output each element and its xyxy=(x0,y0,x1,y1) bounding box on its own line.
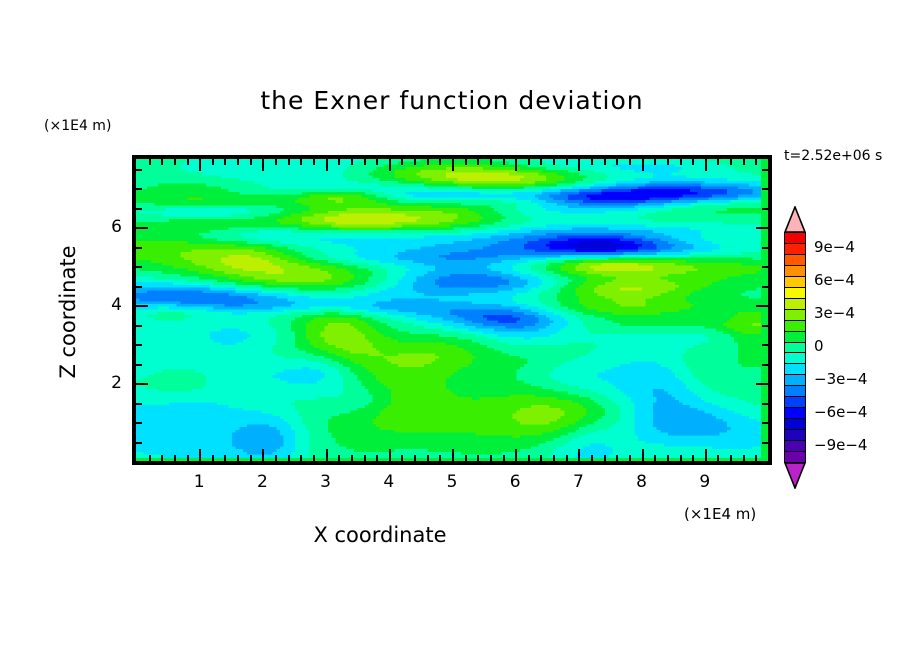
x-tick xyxy=(313,455,315,461)
x-tick-top xyxy=(439,159,441,165)
z-tick-right xyxy=(762,422,768,424)
x-tick-top xyxy=(743,159,745,165)
colorbar-over-arrow xyxy=(784,206,806,233)
z-tick-right xyxy=(756,383,768,385)
z-tick-right xyxy=(762,188,768,190)
x-tick-top xyxy=(667,159,669,165)
x-tick xyxy=(591,455,593,461)
z-tick xyxy=(136,403,142,405)
x-tick xyxy=(667,455,669,461)
x-tick-top xyxy=(326,159,328,171)
x-tick xyxy=(389,449,391,461)
x-tick-top xyxy=(503,159,505,165)
x-tick xyxy=(364,455,366,461)
x-tick xyxy=(755,455,757,461)
x-tick-top xyxy=(730,159,732,165)
x-tick-top xyxy=(692,159,694,165)
x-tick-top xyxy=(452,159,454,171)
x-tick-top xyxy=(275,159,277,165)
x-tick xyxy=(717,455,719,461)
x-tick xyxy=(490,455,492,461)
x-tick-label: 2 xyxy=(242,472,282,492)
x-tick-top xyxy=(199,159,201,171)
x-tick-top xyxy=(717,159,719,165)
x-tick-top xyxy=(364,159,366,165)
x-tick xyxy=(224,455,226,461)
chart-title: the Exner function deviation xyxy=(0,86,904,115)
x-tick-top xyxy=(490,159,492,165)
colorbar-tick-label: 6e−4 xyxy=(814,271,855,289)
colorbar-under-arrow xyxy=(784,462,806,489)
z-tick-right xyxy=(762,325,768,327)
x-tick xyxy=(465,455,467,461)
x-tick xyxy=(212,455,214,461)
x-tick xyxy=(452,449,454,461)
x-tick-top xyxy=(528,159,530,165)
x-tick xyxy=(629,455,631,461)
z-tick xyxy=(136,169,142,171)
z-tick-right xyxy=(762,169,768,171)
x-tick xyxy=(578,449,580,461)
contour-field xyxy=(136,159,768,461)
x-axis-label: X coordinate xyxy=(0,523,760,547)
x-tick xyxy=(553,455,555,461)
x-tick xyxy=(414,455,416,461)
x-tick xyxy=(338,455,340,461)
x-tick-top xyxy=(604,159,606,165)
x-tick-label: 4 xyxy=(369,472,409,492)
x-tick xyxy=(439,455,441,461)
x-tick xyxy=(540,455,542,461)
x-axis-unit-label: (×1E4 m) xyxy=(684,505,756,523)
z-tick-right xyxy=(762,286,768,288)
x-tick xyxy=(326,449,328,461)
x-tick-top xyxy=(250,159,252,165)
z-tick xyxy=(136,364,142,366)
x-tick-top xyxy=(338,159,340,165)
x-tick xyxy=(376,455,378,461)
x-tick xyxy=(515,449,517,461)
x-tick xyxy=(743,455,745,461)
z-tick-right xyxy=(762,442,768,444)
x-tick-label: 5 xyxy=(432,472,472,492)
z-tick xyxy=(136,286,142,288)
time-annotation: t=2.52e+06 s xyxy=(784,148,882,164)
x-tick xyxy=(149,455,151,461)
colorbar-tick-label: −9e−4 xyxy=(814,436,867,454)
z-tick xyxy=(136,442,142,444)
z-axis-unit-label: (×1E4 m) xyxy=(44,118,111,134)
x-tick xyxy=(275,455,277,461)
x-tick-top xyxy=(465,159,467,165)
x-tick-top xyxy=(616,159,618,165)
z-tick-right xyxy=(756,305,768,307)
x-tick-label: 1 xyxy=(179,472,219,492)
x-tick xyxy=(604,455,606,461)
z-tick xyxy=(136,305,148,307)
x-tick xyxy=(503,455,505,461)
x-tick-top xyxy=(566,159,568,165)
z-tick xyxy=(136,247,142,249)
x-tick xyxy=(705,449,707,461)
x-tick-top xyxy=(351,159,353,165)
x-tick-top xyxy=(300,159,302,165)
z-tick-label: 2 xyxy=(82,373,122,393)
heatmap-plot-area xyxy=(132,155,772,465)
x-tick-top xyxy=(477,159,479,165)
x-tick xyxy=(692,455,694,461)
x-tick xyxy=(654,455,656,461)
z-tick-right xyxy=(762,266,768,268)
colorbar-tick-label: 0 xyxy=(814,337,824,355)
x-tick-top xyxy=(629,159,631,165)
x-tick-top xyxy=(705,159,707,171)
x-tick xyxy=(680,455,682,461)
x-tick xyxy=(401,455,403,461)
z-tick xyxy=(136,188,142,190)
x-tick-label: 3 xyxy=(306,472,346,492)
x-tick xyxy=(161,455,163,461)
x-tick xyxy=(174,455,176,461)
z-tick-right xyxy=(762,344,768,346)
x-tick xyxy=(300,455,302,461)
x-tick-top xyxy=(288,159,290,165)
colorbar-tick-label: 9e−4 xyxy=(814,238,855,256)
colorbar-tick-label: 3e−4 xyxy=(814,304,855,322)
x-tick-top xyxy=(553,159,555,165)
x-tick-label: 9 xyxy=(685,472,725,492)
x-tick xyxy=(187,455,189,461)
z-tick xyxy=(136,344,142,346)
x-tick-label: 8 xyxy=(622,472,662,492)
x-tick-top xyxy=(389,159,391,171)
x-tick-top xyxy=(515,159,517,171)
x-tick-top xyxy=(578,159,580,171)
x-tick-top xyxy=(680,159,682,165)
x-tick xyxy=(528,455,530,461)
x-tick xyxy=(262,449,264,461)
z-tick-label: 6 xyxy=(82,217,122,237)
x-tick-top xyxy=(414,159,416,165)
x-tick-label: 7 xyxy=(558,472,598,492)
x-tick xyxy=(566,455,568,461)
x-tick-top xyxy=(224,159,226,165)
x-tick xyxy=(351,455,353,461)
x-tick-top xyxy=(642,159,644,171)
x-tick-label: 6 xyxy=(495,472,535,492)
x-tick-top xyxy=(313,159,315,165)
z-tick-right xyxy=(762,208,768,210)
x-tick-top xyxy=(376,159,378,165)
z-tick-label: 4 xyxy=(82,295,122,315)
colorbar-tick-label: −6e−4 xyxy=(814,403,867,421)
x-tick xyxy=(250,455,252,461)
z-tick xyxy=(136,383,148,385)
y-axis-label: Z coordinate xyxy=(56,212,80,412)
z-tick-right xyxy=(762,403,768,405)
x-tick-top xyxy=(540,159,542,165)
z-tick xyxy=(136,422,142,424)
z-tick xyxy=(136,325,142,327)
x-tick-top xyxy=(262,159,264,171)
heatmap-clip xyxy=(136,159,768,461)
x-tick xyxy=(477,455,479,461)
x-tick xyxy=(237,455,239,461)
x-tick xyxy=(616,455,618,461)
x-tick-top xyxy=(174,159,176,165)
x-tick-top xyxy=(149,159,151,165)
z-tick-right xyxy=(762,247,768,249)
x-tick xyxy=(642,449,644,461)
z-tick xyxy=(136,208,142,210)
x-tick xyxy=(427,455,429,461)
x-tick-top xyxy=(654,159,656,165)
colorbar-tick-label: −3e−4 xyxy=(814,370,867,388)
x-tick xyxy=(730,455,732,461)
z-tick xyxy=(136,266,142,268)
colorbar: 9e−46e−43e−40−3e−4−6e−4−9e−4 xyxy=(784,206,806,488)
z-tick-right xyxy=(756,227,768,229)
x-tick-top xyxy=(187,159,189,165)
z-tick-right xyxy=(762,364,768,366)
x-tick-top xyxy=(427,159,429,165)
x-tick xyxy=(199,449,201,461)
x-tick-top xyxy=(161,159,163,165)
x-tick-top xyxy=(237,159,239,165)
x-tick-top xyxy=(212,159,214,165)
z-tick xyxy=(136,227,148,229)
x-tick xyxy=(288,455,290,461)
x-tick-top xyxy=(755,159,757,165)
x-tick-top xyxy=(401,159,403,165)
x-tick-top xyxy=(591,159,593,165)
